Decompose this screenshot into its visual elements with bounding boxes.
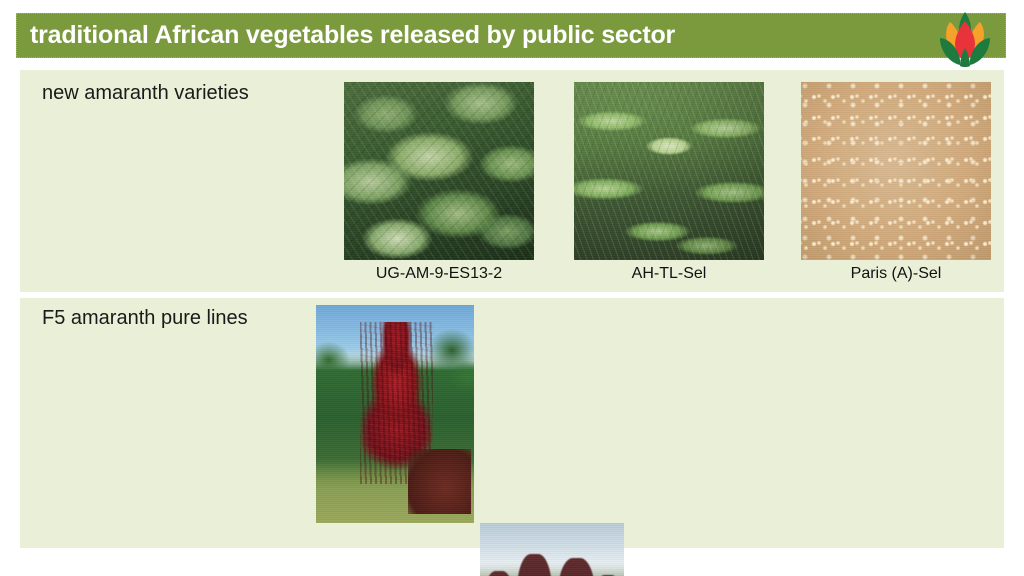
crimson-amaranth-panicle-photo[interactable] [316, 305, 474, 523]
photo-grain-overlay [480, 523, 624, 576]
photo-grain-overlay [574, 82, 764, 260]
photo-vignette [801, 82, 991, 260]
section-new-amaranth-varieties: new amaranth varieties UG-AM-9-ES13-2 AH… [20, 70, 1004, 292]
dark-red-amaranth-panicles-with-person-photo[interactable] [480, 523, 624, 576]
panicle-spike [517, 554, 552, 576]
panicle-spike [483, 571, 515, 576]
section-title-new-amaranth-varieties: new amaranth varieties [42, 82, 249, 105]
photo-grain-overlay [344, 82, 534, 260]
hand-holding-plant [408, 449, 471, 514]
light-narrowleaf-amaranth-plants-photo [574, 82, 764, 260]
pure-lines-image-row [296, 305, 996, 530]
variety-caption: UG-AM-9-ES13-2 [344, 260, 534, 283]
variety-caption: AH-TL-Sel [574, 260, 764, 283]
variety-card[interactable]: UG-AM-9-ES13-2 [344, 82, 534, 283]
variety-image-row: UG-AM-9-ES13-2 AH-TL-Sel Paris (A)-Sel [324, 82, 984, 287]
variety-caption: Paris (A)-Sel [801, 260, 991, 283]
page-title: traditional African vegetables released … [17, 21, 675, 50]
panicle-spike [558, 558, 595, 576]
slide-header-bar: traditional African vegetables released … [16, 13, 1006, 58]
dark-broadleaf-amaranth-canopy-photo [344, 82, 534, 260]
amaranth-flower-logo [932, 8, 998, 70]
photo-grain-overlay [801, 82, 991, 260]
variety-card[interactable]: Paris (A)-Sel [801, 82, 991, 283]
section-f5-amaranth-pure-lines: F5 amaranth pure lines [20, 298, 1004, 548]
variety-card[interactable]: AH-TL-Sel [574, 82, 764, 283]
cream-amaranth-seeds-photo [801, 82, 991, 260]
slide: traditional African vegetables released … [0, 0, 1024, 576]
section-title-f5-amaranth-pure-lines: F5 amaranth pure lines [42, 307, 248, 330]
